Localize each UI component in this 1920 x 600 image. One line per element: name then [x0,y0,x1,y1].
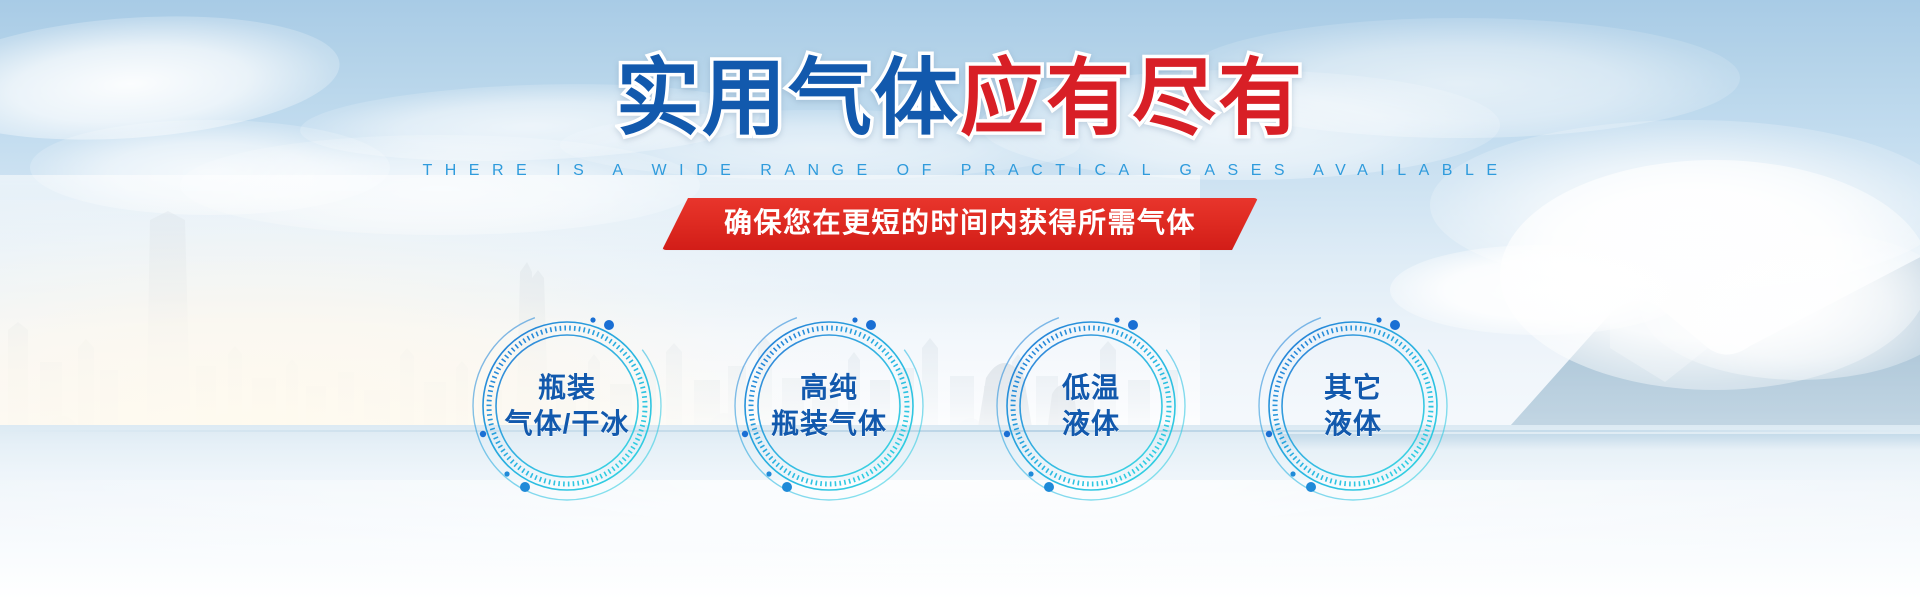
category-line-2: 液体 [1062,406,1120,442]
title-blue-part: 实用气体 [616,51,960,145]
category-circle-3-label: 低温 液体 [993,308,1189,504]
ribbon-wrapper: 确保您在更短的时间内获得所需气体 [0,198,1920,250]
category-line-2: 气体/干冰 [505,406,630,442]
headline-block: 实用气体应有尽有 THERE IS A WIDE RANGE OF PRACTI… [0,56,1920,250]
category-line-1: 低温 [1062,370,1120,406]
subtitle-english: THERE IS A WIDE RANGE OF PRACTICAL GASES… [0,162,1920,180]
hero-banner: 实用气体应有尽有 THERE IS A WIDE RANGE OF PRACTI… [0,0,1920,600]
category-line-1: 瓶装 [538,370,596,406]
page-title: 实用气体应有尽有 [0,56,1920,140]
category-circle-4[interactable]: 其它 液体 [1255,308,1451,504]
category-line-2: 瓶装气体 [771,406,887,442]
category-circle-3[interactable]: 低温 液体 [993,308,1189,504]
category-circle-1[interactable]: 瓶装 气体/干冰 [469,308,665,504]
tagline-ribbon: 确保您在更短的时间内获得所需气体 [662,198,1258,250]
category-circle-2-label: 高纯 瓶装气体 [731,308,927,504]
category-line-1: 其它 [1324,370,1382,406]
title-red-part: 应有尽有 [960,51,1304,145]
category-circle-2[interactable]: 高纯 瓶装气体 [731,308,927,504]
category-circle-4-label: 其它 液体 [1255,308,1451,504]
category-line-2: 液体 [1324,406,1382,442]
category-circles: 瓶装 气体/干冰 [0,308,1920,504]
category-circle-1-label: 瓶装 气体/干冰 [469,308,665,504]
category-line-1: 高纯 [800,370,858,406]
